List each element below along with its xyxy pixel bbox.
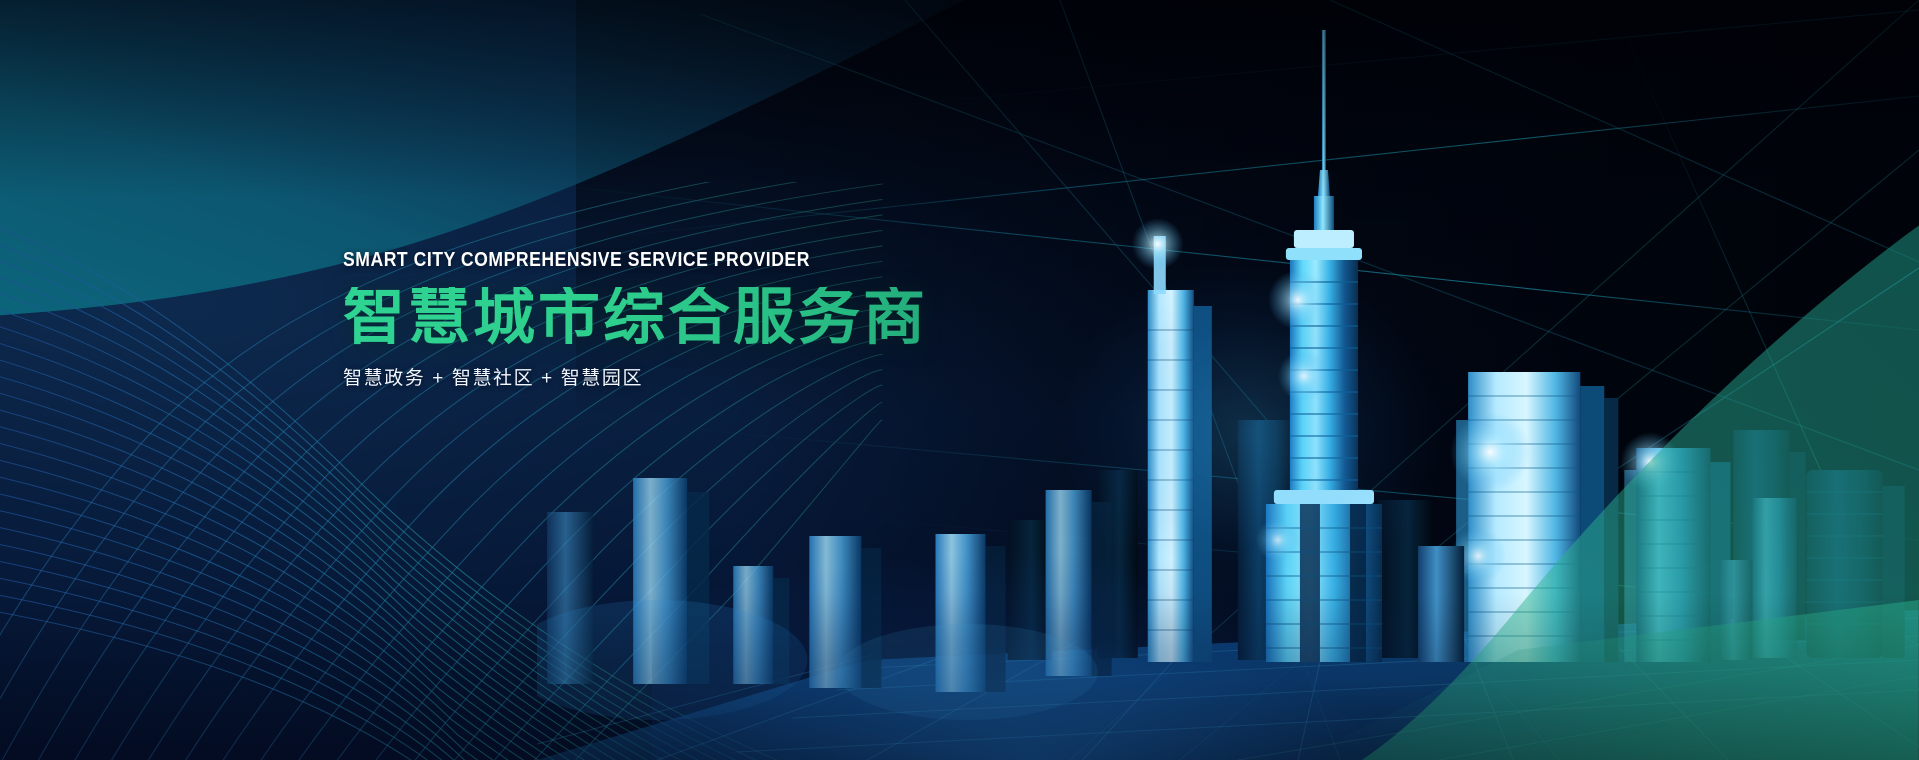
- banner-subline: 智慧政务 + 智慧社区 + 智慧园区: [343, 369, 1103, 388]
- banner-copy-block: SMART CITY COMPREHENSIVE SERVICE PROVIDE…: [343, 250, 1103, 388]
- banner-headline: 智慧城市综合服务商: [343, 287, 1103, 349]
- banner-eyebrow: SMART CITY COMPREHENSIVE SERVICE PROVIDE…: [343, 250, 1012, 270]
- hero-banner: SMART CITY COMPREHENSIVE SERVICE PROVIDE…: [0, 0, 1919, 760]
